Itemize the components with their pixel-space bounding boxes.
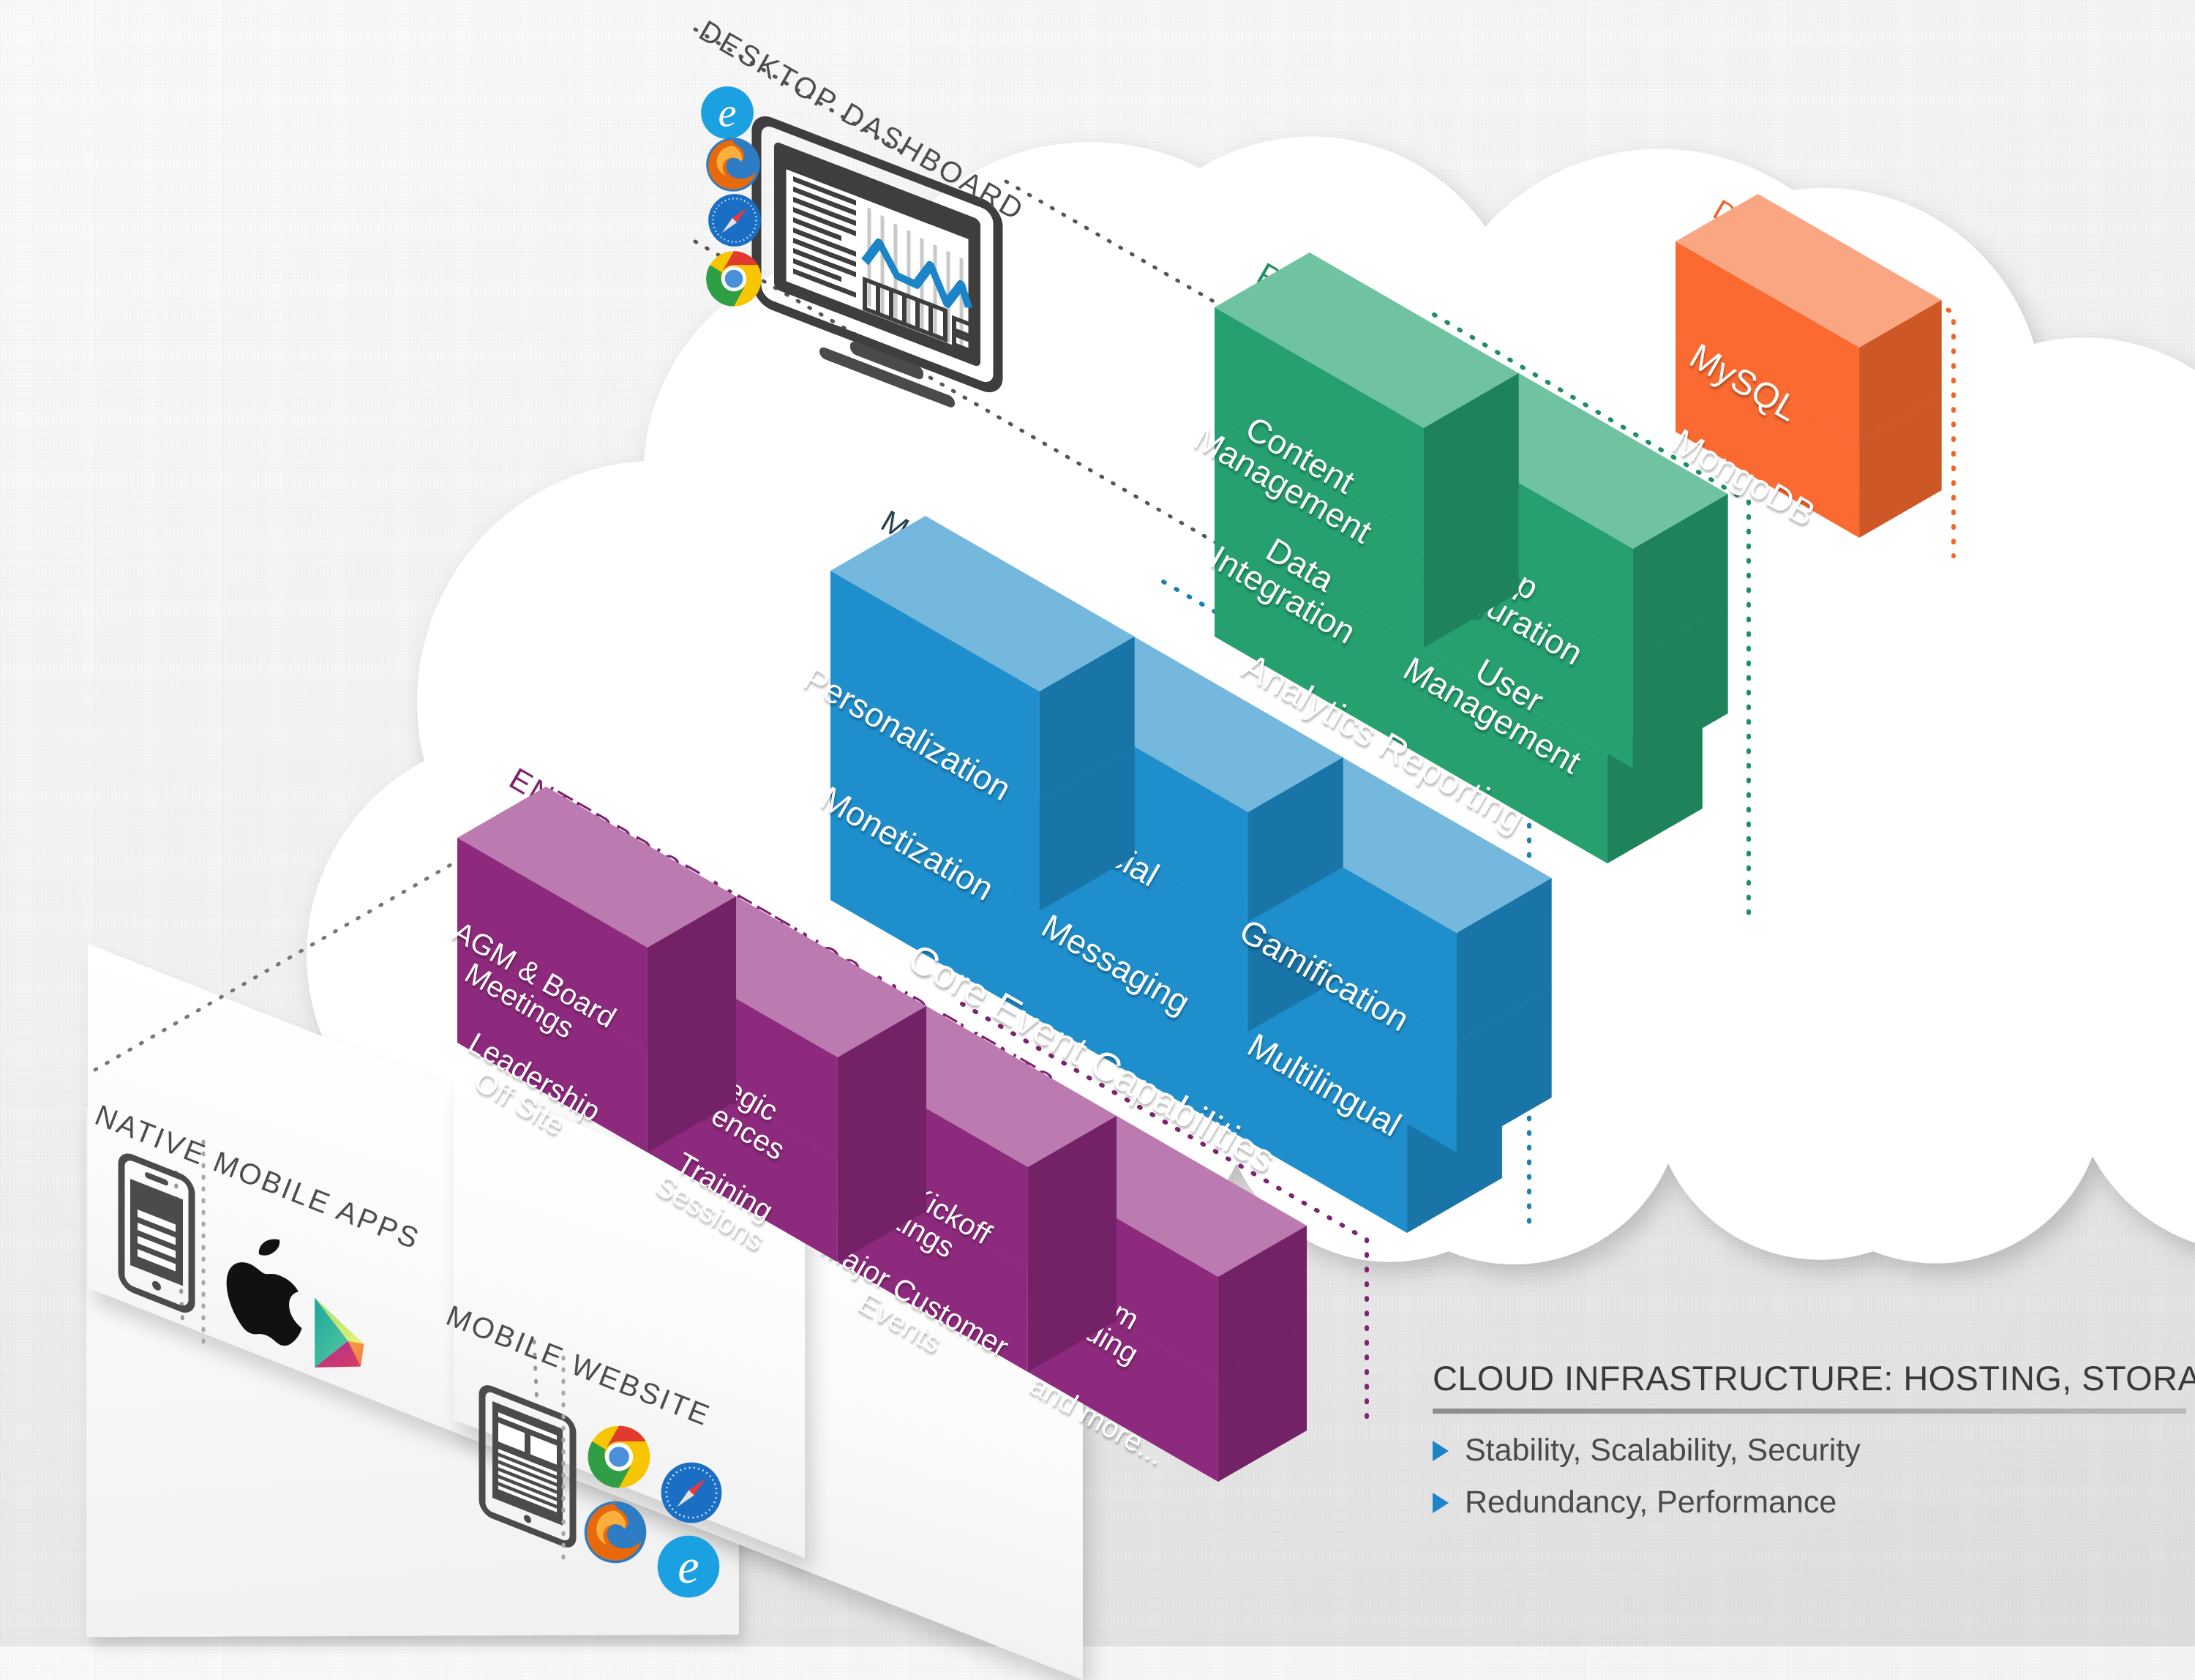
infrastructure-title: CLOUD INFRASTRUCTURE: HOSTING, STORAGE bbox=[1433, 1358, 2186, 1398]
channel-label-desktop-dashboard: DESKTOP DASHBOARD bbox=[694, 15, 1030, 228]
triangle-bullet-icon bbox=[1433, 1493, 1449, 1513]
infrastructure-bullet: Stability, Scalability, Security bbox=[1433, 1433, 2186, 1469]
infrastructure-bullet-text: Stability, Scalability, Security bbox=[1465, 1433, 1861, 1469]
channel-label-native-mobile-apps: NATIVE MOBILE APPS bbox=[91, 1099, 425, 1256]
infrastructure-bullet: Redundancy, Performance bbox=[1433, 1485, 2186, 1520]
channel-label-mobile-website: MOBILE WEBSITE bbox=[442, 1300, 716, 1433]
triangle-bullet-icon bbox=[1433, 1441, 1449, 1461]
infrastructure-bullet-text: Redundancy, Performance bbox=[1465, 1485, 1836, 1520]
infrastructure-divider bbox=[1433, 1409, 2186, 1414]
cloud-infrastructure-block: CLOUD INFRASTRUCTURE: HOSTING, STORAGE S… bbox=[1433, 1358, 2186, 1537]
